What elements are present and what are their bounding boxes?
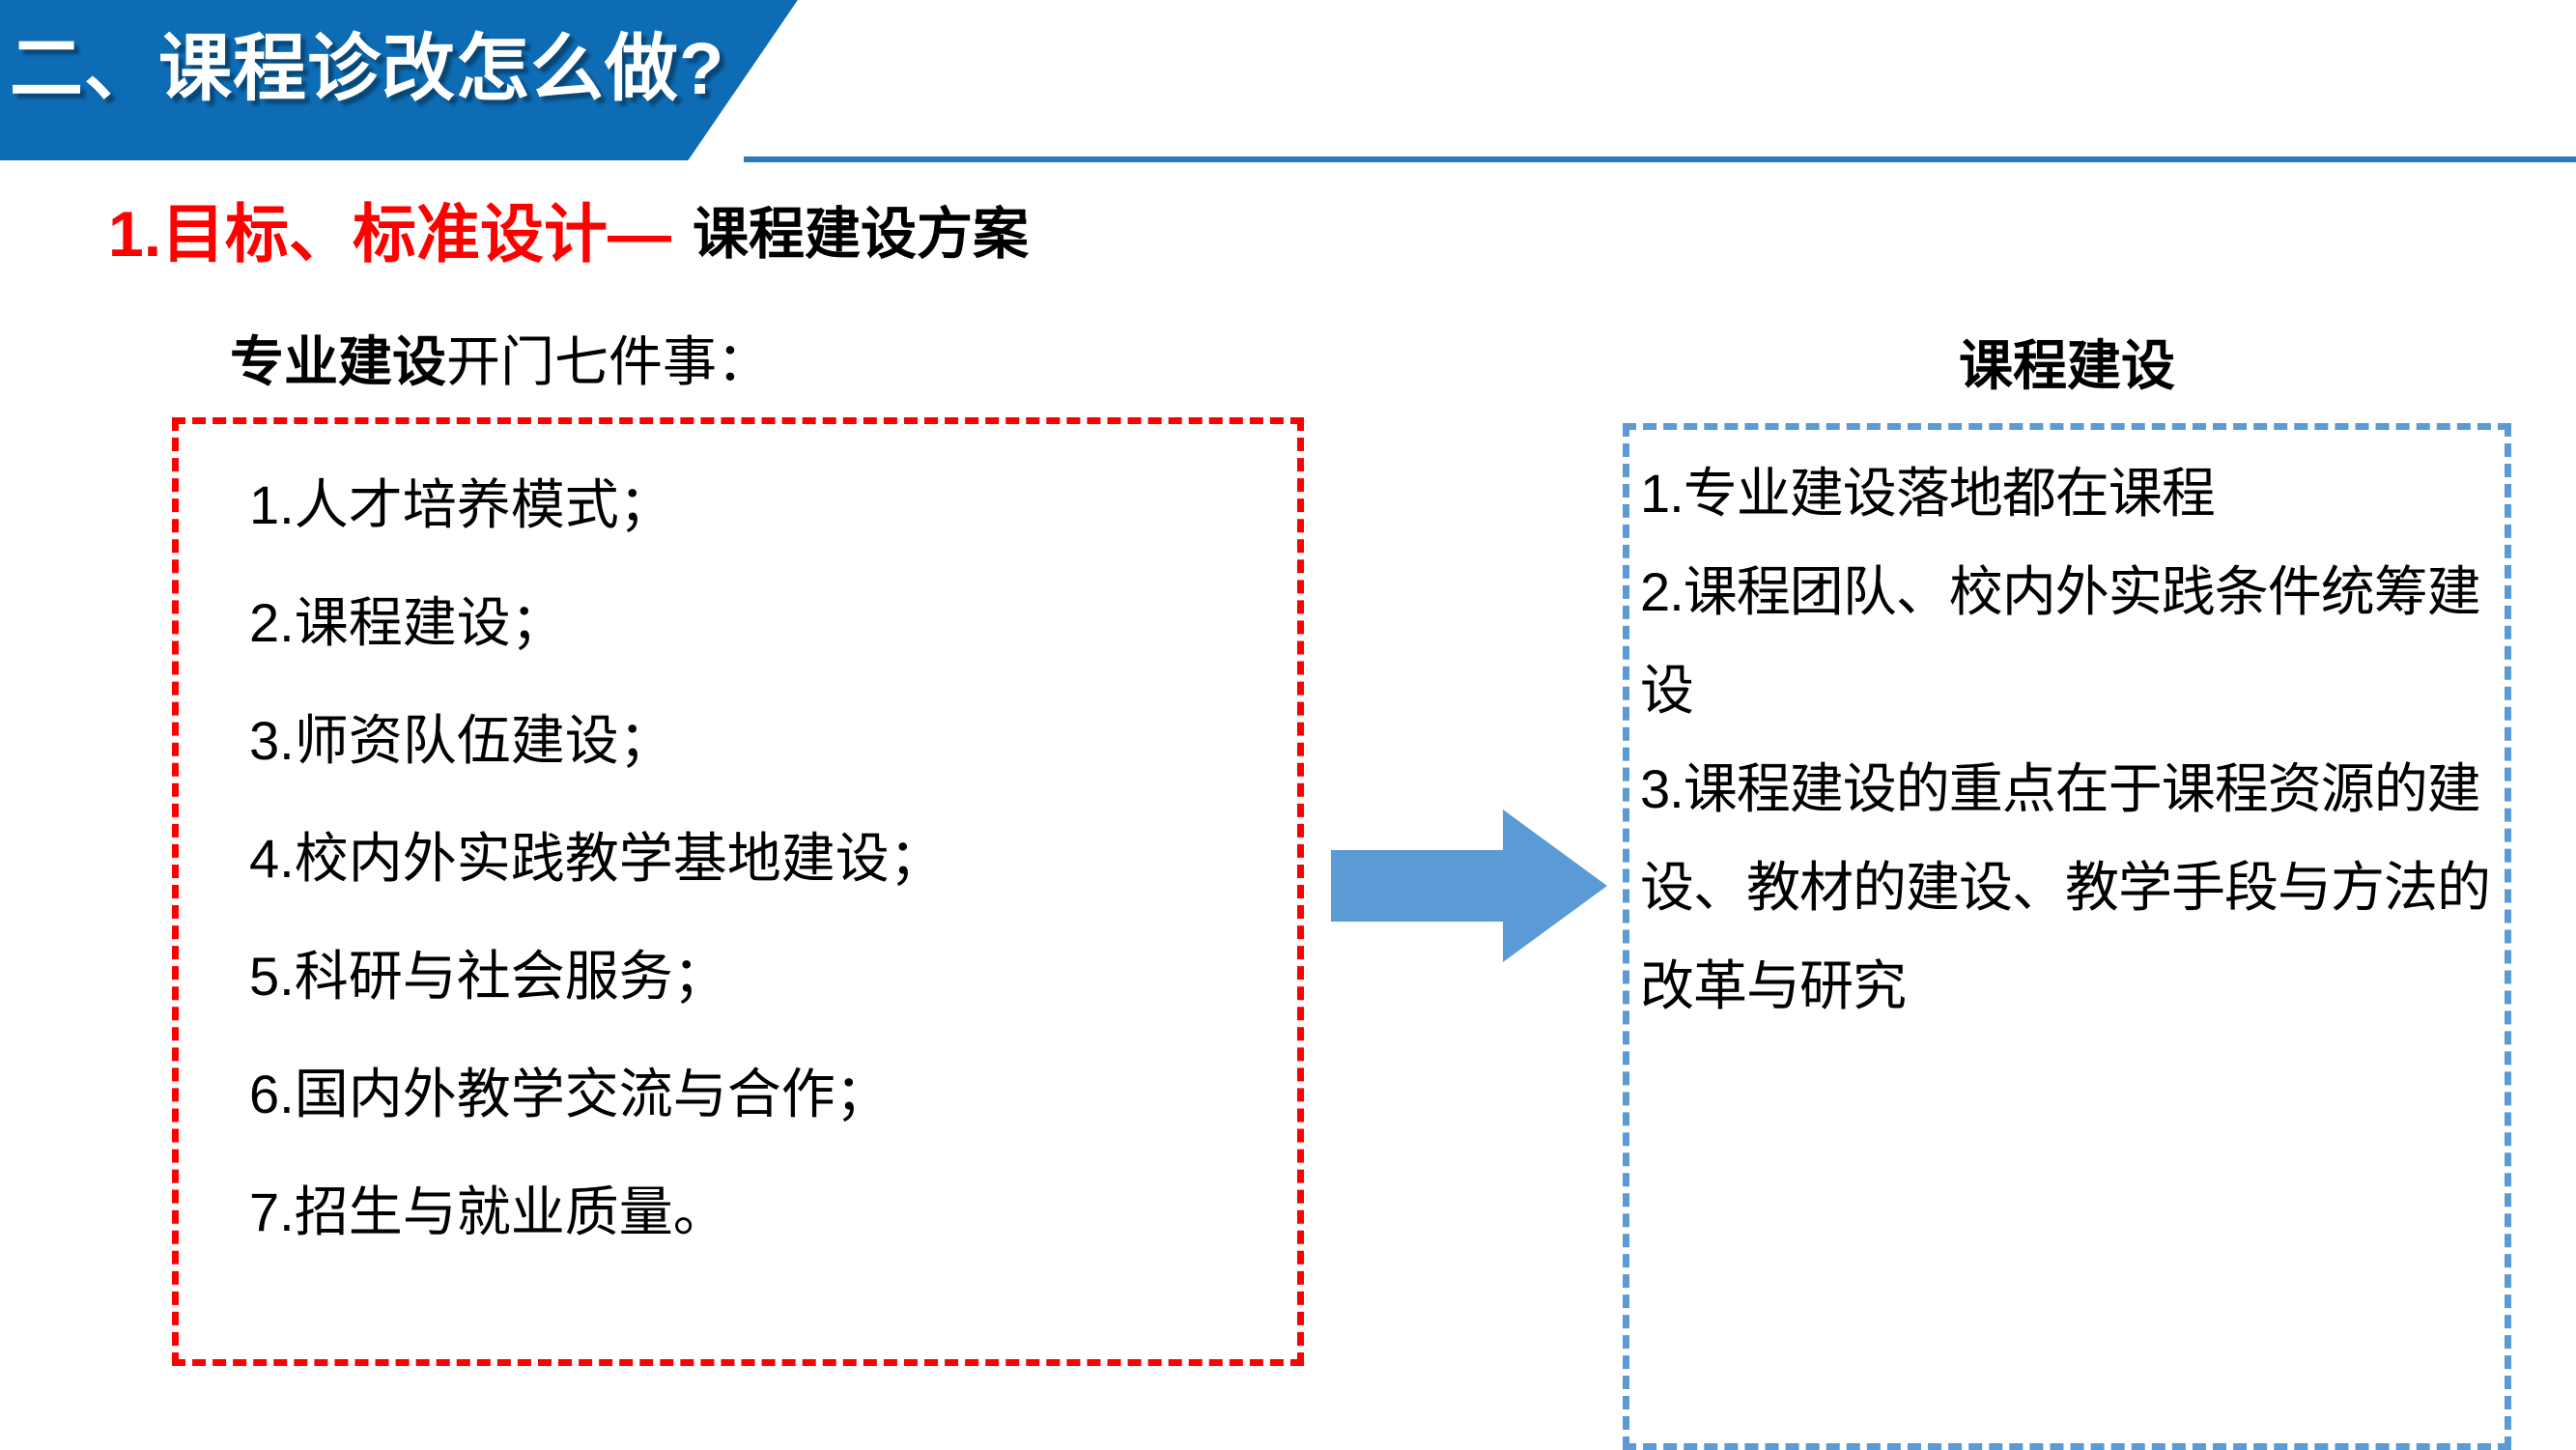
- list-item: 2.课程建设；: [249, 564, 1292, 682]
- page-title: 二、课程诊改怎么做?: [10, 8, 782, 116]
- header-divider-line: [744, 156, 2576, 162]
- subtitle: 1.目标、标准设计— 课程建设方案: [108, 185, 1029, 272]
- list-item: 2.课程团队、校内外实践条件统筹建设: [1640, 543, 2509, 740]
- right-panel-heading: 课程建设: [1623, 323, 2511, 401]
- left-heading-bold-text: 专业建设: [230, 331, 446, 392]
- list-item: 3.师资队伍建设；: [249, 682, 1292, 800]
- list-item: 6.国内外教学交流与合作；: [249, 1036, 1292, 1153]
- list-item: 1.人才培养模式；: [249, 446, 1292, 564]
- left-heading-normal-text: 开门七件事：: [446, 331, 771, 392]
- subtitle-red-text: 1.目标、标准设计—: [108, 183, 671, 275]
- right-panel-list: 1.专业建设落地都在课程 2.课程团队、校内外实践条件统筹建设 3.课程建设的重…: [1640, 444, 2509, 1036]
- list-item: 7.招生与就业质量。: [249, 1153, 1292, 1271]
- list-item: 1.专业建设落地都在课程: [1640, 444, 2509, 543]
- subtitle-black-text: 课程建设方案: [693, 188, 1029, 270]
- left-panel-list: 1.人才培养模式； 2.课程建设； 3.师资队伍建设； 4.校内外实践教学基地建…: [249, 446, 1292, 1271]
- list-item: 3.课程建设的重点在于课程资源的建设、教材的建设、教学手段与方法的改革与研究: [1640, 740, 2509, 1036]
- right-arrow-icon: [1331, 810, 1607, 962]
- left-panel-heading: 专业建设开门七件事：: [230, 319, 771, 397]
- list-item: 4.校内外实践教学基地建设；: [249, 800, 1292, 918]
- list-item: 5.科研与社会服务；: [249, 918, 1292, 1036]
